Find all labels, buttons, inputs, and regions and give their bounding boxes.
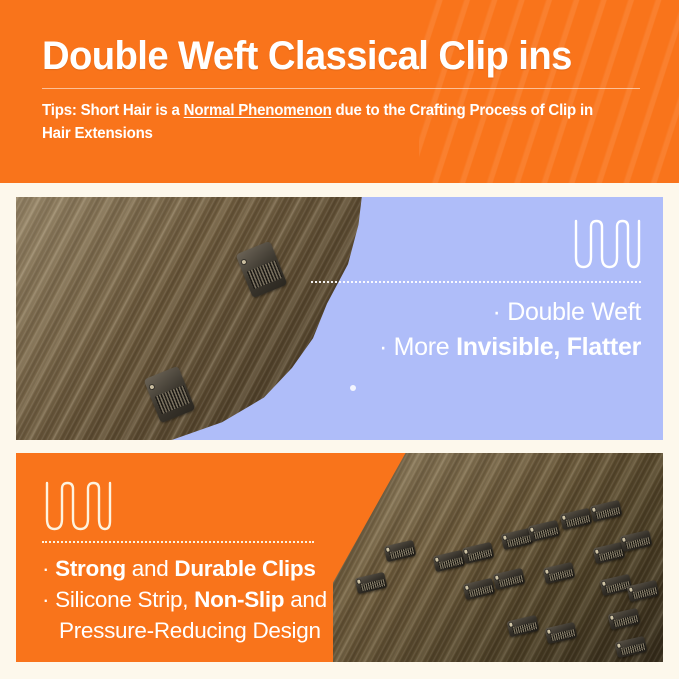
infographic-page: Double Weft Classical Clip ins Tips: Sho… xyxy=(0,0,679,679)
title-divider xyxy=(42,88,640,89)
clips-bullet-1-emphasis-b: Durable Clips xyxy=(174,556,315,581)
clips-bullet-2-text-pre: Silicone Strip, xyxy=(55,587,194,612)
clips-bullet-1: · Strong and Durable Clips xyxy=(42,553,392,584)
hair-weft-icon xyxy=(42,481,112,533)
header-banner: Double Weft Classical Clip ins Tips: Sho… xyxy=(0,0,679,183)
durable-clips-panel: · Strong and Durable Clips · Silicone St… xyxy=(16,453,663,662)
clips-bullet-2-text-post: and xyxy=(284,587,327,612)
subtitle-underlined-phrase: Normal Phenomenon xyxy=(184,102,332,119)
highlight-dot-decoration xyxy=(350,385,356,391)
bullet-marker: · xyxy=(379,333,387,361)
hair-weft-icon xyxy=(571,219,641,271)
clips-bullet-1-emphasis-a: Strong xyxy=(55,556,126,581)
subtitle-text-before: Tips: Short Hair is a xyxy=(42,102,184,119)
clips-bullet-2-emphasis: Non-Slip xyxy=(194,587,284,612)
weft-bullet-1-text: Double Weft xyxy=(507,298,641,326)
header-subtitle: Tips: Short Hair is a Normal Phenomenon … xyxy=(42,99,624,145)
header-content: Double Weft Classical Clip ins Tips: Sho… xyxy=(42,33,645,145)
weft-bullet-2-text: More xyxy=(394,333,456,361)
bullet-marker: · xyxy=(493,298,501,326)
bullet-marker: · xyxy=(42,587,49,612)
page-title: Double Weft Classical Clip ins xyxy=(42,33,618,79)
dotted-divider xyxy=(311,281,641,283)
clips-bullet-3-text: Pressure-Reducing Design xyxy=(59,618,321,643)
double-weft-panel: · Double Weft · More Invisible, Flatter xyxy=(16,197,663,440)
clips-bullet-3: Pressure-Reducing Design xyxy=(42,615,392,646)
weft-bullet-2: · More Invisible, Flatter xyxy=(311,330,641,365)
double-weft-text-block: · Double Weft · More Invisible, Flatter xyxy=(311,219,641,365)
clips-bullet-2: · Silicone Strip, Non-Slip and xyxy=(42,584,392,615)
dotted-divider xyxy=(42,541,314,543)
bullet-marker: · xyxy=(42,556,49,581)
weft-bullet-2-emphasis: Invisible, Flatter xyxy=(456,333,641,361)
clips-bullet-1-text: and xyxy=(126,556,175,581)
durable-clips-text-block: · Strong and Durable Clips · Silicone St… xyxy=(42,481,392,646)
weft-bullet-1: · Double Weft xyxy=(311,295,641,330)
